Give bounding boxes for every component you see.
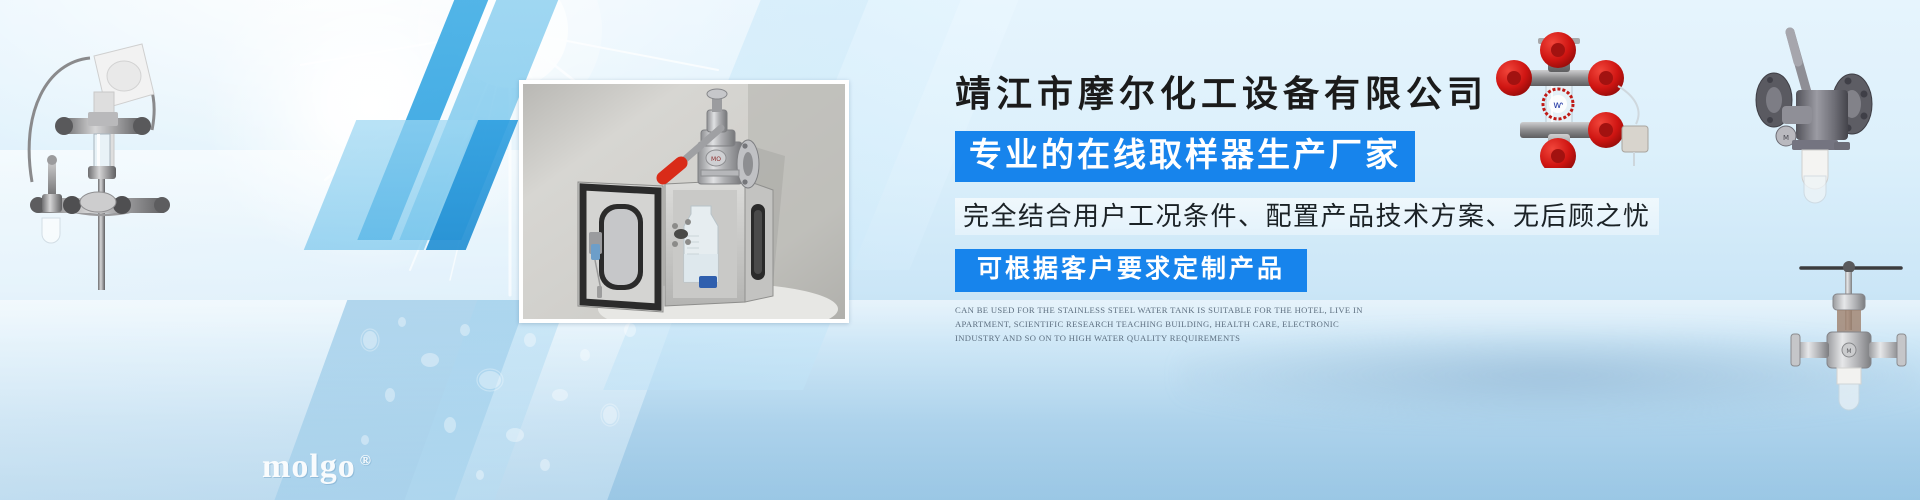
product-photo-sampling-cabinet: MO	[523, 84, 845, 319]
watermark-logo: molgo®	[262, 448, 372, 486]
equipment-pole-sampler-image	[2, 22, 182, 290]
equipment-sampling-valve-image: M	[1783, 222, 1913, 412]
svg-text:M: M	[1783, 134, 1789, 142]
registered-mark-icon: ®	[360, 453, 372, 469]
watermark-text: molgo	[262, 448, 356, 485]
svg-text:ⱳ: ⱳ	[1553, 100, 1563, 111]
promo-banner: MO 靖江市摩尔化工设备有限公司 专业的在线取样器生产厂家 完全结合用户工况条件…	[0, 0, 1920, 500]
custom-order-bar: 可根据客户要求定制产品	[955, 249, 1307, 292]
water-droplets-icon	[330, 300, 660, 500]
english-description: CAN BE USED FOR THE STAINLESS STEEL WATE…	[955, 304, 1367, 346]
equipment-lever-valve-image: M	[1752, 18, 1902, 208]
equipment-valve-manifold-image: ⱳ	[1478, 28, 1668, 168]
svg-text:M: M	[1846, 348, 1851, 355]
custom-order-text: 可根据客户要求定制产品	[977, 255, 1285, 283]
subline-highlight: 完全结合用户工况条件、配置产品技术方案、无后顾之忧	[955, 198, 1659, 235]
svg-text:MO: MO	[711, 156, 721, 163]
headline-text: 专业的在线取样器生产厂家	[969, 136, 1401, 173]
headline-highlight-bar: 专业的在线取样器生产厂家	[955, 131, 1415, 182]
subline-text: 完全结合用户工况条件、配置产品技术方案、无后顾之忧	[963, 201, 1651, 231]
product-photo-frame: MO	[519, 80, 849, 323]
